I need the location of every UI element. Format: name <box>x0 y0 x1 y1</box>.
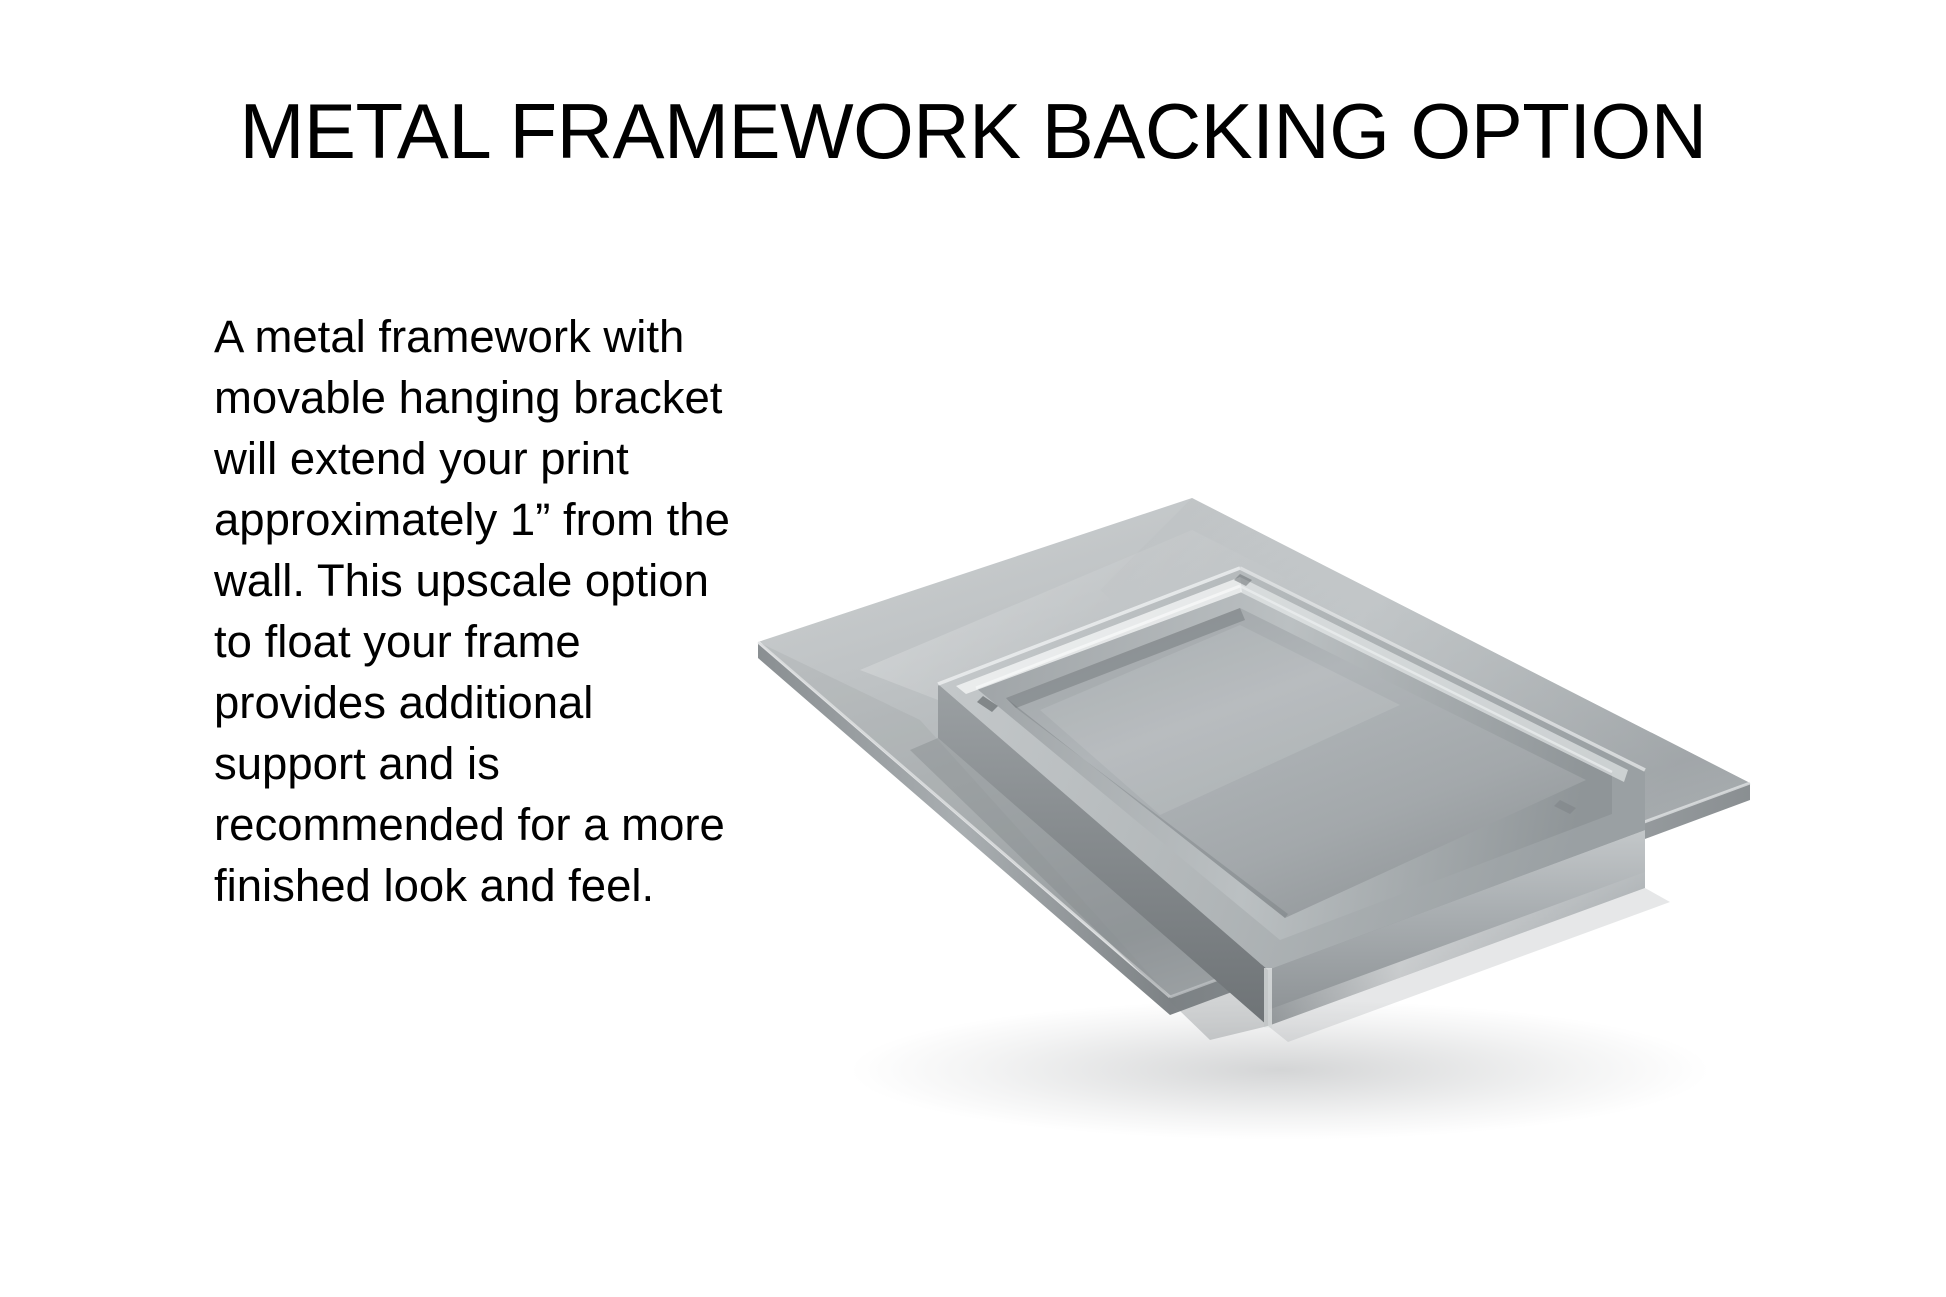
metal-frame-illustration <box>740 470 1870 1170</box>
body-paragraph: A metal framework with movable hanging b… <box>214 306 744 916</box>
page-title: METAL FRAMEWORK BACKING OPTION <box>0 92 1946 172</box>
presentation-slide: METAL FRAMEWORK BACKING OPTION A metal f… <box>0 0 1946 1297</box>
metal-framework-backing-plate-photo <box>740 470 1870 1170</box>
frame-corner-edge-highlight <box>1264 968 1272 1028</box>
